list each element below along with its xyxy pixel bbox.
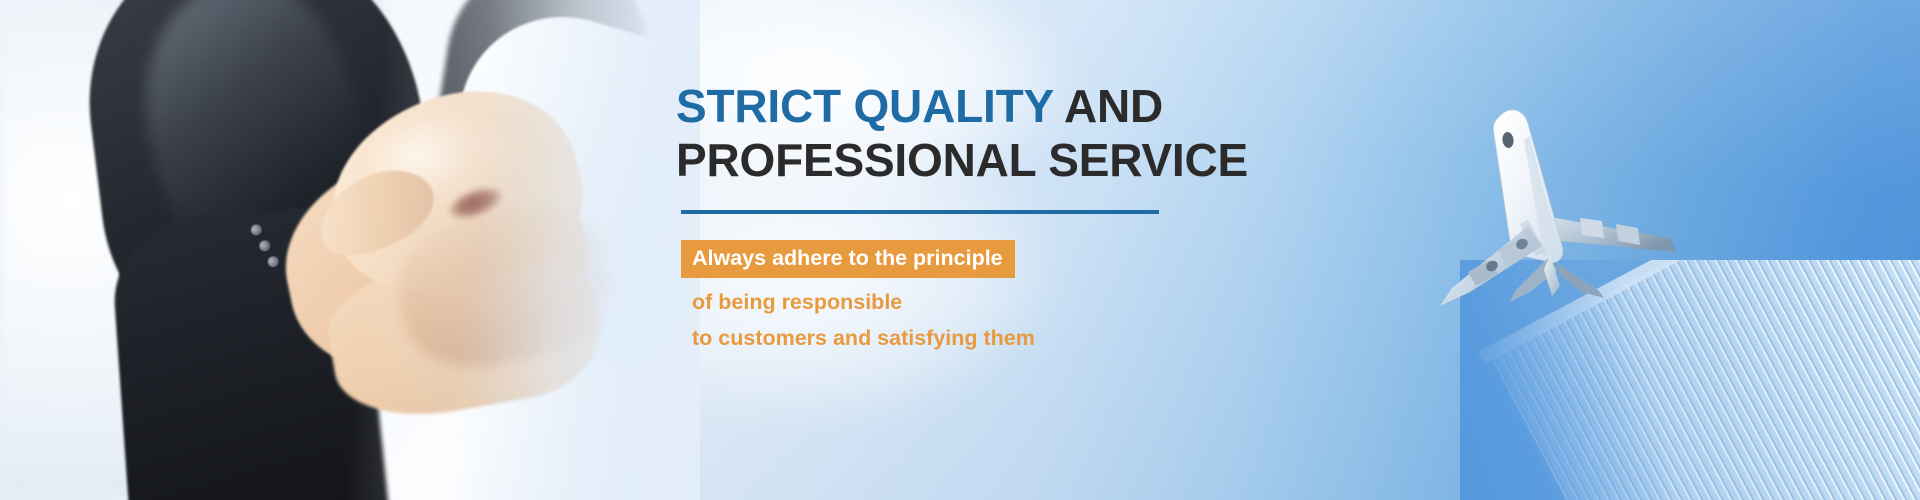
subtitle-line-3: to customers and satisfying them: [681, 328, 1236, 350]
promotional-banner: STRICT QUALITY AND PROFESSIONAL SERVICE …: [0, 0, 1920, 500]
subtitle-line-2: of being responsible: [681, 292, 1236, 314]
headline-line-1: STRICT QUALITY AND: [676, 80, 1236, 134]
headline-divider: [681, 210, 1159, 214]
airplane-icon: [1432, 100, 1692, 330]
subtitle-block: Always adhere to the principle of being …: [681, 240, 1236, 350]
headline-accent-text: STRICT QUALITY: [676, 80, 1053, 132]
subtitle-line-1: Always adhere to the principle: [681, 240, 1015, 279]
headline-rest-text: AND: [1053, 80, 1163, 132]
headline-line-2: PROFESSIONAL SERVICE: [676, 134, 1236, 188]
photo-edge-fade: [0, 0, 700, 500]
handshake-photo: [0, 0, 700, 500]
banner-copy: STRICT QUALITY AND PROFESSIONAL SERVICE …: [676, 80, 1236, 349]
